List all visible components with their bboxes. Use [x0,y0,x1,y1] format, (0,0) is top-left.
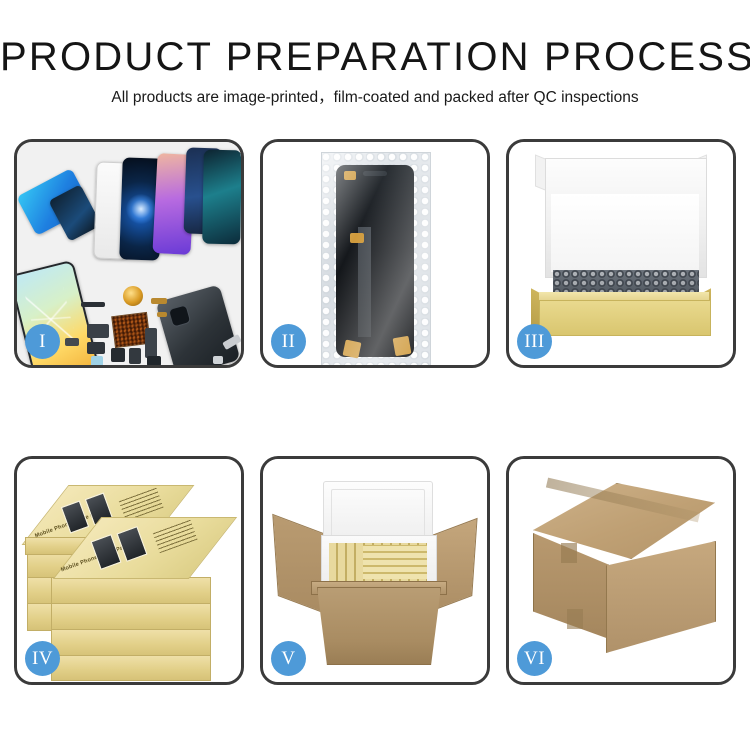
step-badge-4: IV [25,641,60,676]
small-part [91,356,103,365]
process-step-panel-3[interactable]: III [506,139,736,368]
phone-back-housing [156,284,241,365]
stacked-box [51,629,211,657]
carton-tape-mark [561,543,577,563]
phone-teal [202,150,241,245]
page-title: PRODUCT PREPARATION PROCESS [0,36,750,78]
small-part [157,312,167,317]
carton-right-face [606,541,716,653]
process-step-panel-4[interactable]: Mobile Phone Spare Parts Mobile Phone Sp… [14,456,244,685]
step-badge-1: I [25,324,60,359]
small-part [81,302,105,307]
process-step-panel-2[interactable]: II [260,139,490,368]
bubble-wrap-bag [321,152,431,365]
small-part [145,328,157,358]
box-base-front [539,300,711,336]
small-part [147,356,161,365]
carton-body [317,587,441,665]
step-badge-3: III [517,324,552,359]
retail-box-row [363,545,427,579]
page-header: PRODUCT PREPARATION PROCESS All products… [0,0,750,108]
small-part [65,338,79,346]
process-step-panel-1[interactable]: I [14,139,244,368]
small-part [87,342,105,354]
small-part [151,298,167,304]
small-part [87,324,109,338]
small-part [111,348,125,362]
retail-boxes-inside [329,543,427,581]
step-badge-6: VI [517,641,552,676]
small-part [213,356,223,364]
step-badge-2: II [271,324,306,359]
step-badge-5: V [271,641,306,676]
stacked-box [51,655,211,681]
page-subtitle: All products are image-printed，film-coat… [0,88,750,108]
carton-tape-mark [567,609,583,629]
bubble-wrap-gloss [322,153,430,365]
box-foam-insert [551,194,699,272]
process-step-panel-6[interactable]: VI [506,456,736,685]
stacked-box [51,577,211,605]
process-step-panel-5[interactable]: V [260,456,490,685]
gold-coil-part [123,286,143,306]
stacked-box [51,603,211,631]
small-part [129,348,141,364]
process-step-grid: I II III [14,139,736,685]
